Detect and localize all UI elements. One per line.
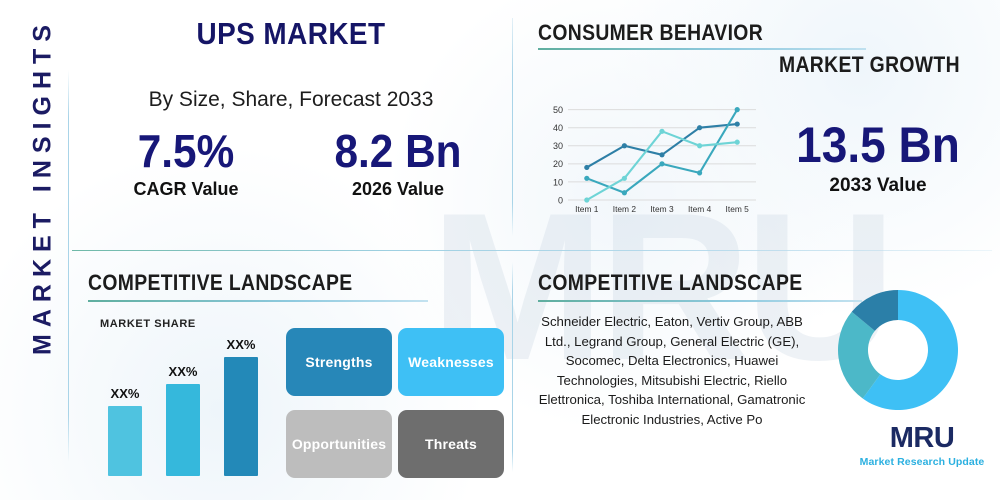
section-header-market-growth: MARKET GROWTH: [779, 52, 960, 78]
svg-text:Item 3: Item 3: [650, 204, 674, 214]
section-header-competitive-landscape-left: COMPETITIVE LANDSCAPE: [88, 270, 352, 296]
line-chart-x-tick-labels: Item 1Item 2Item 3Item 4Item 5: [575, 204, 749, 214]
stat-2033-value: 13.5 Bn 2033 Value: [768, 120, 988, 197]
stat-2033-value-number: 13.5 Bn: [777, 120, 979, 171]
svg-text:10: 10: [553, 177, 563, 187]
divider-vertical-left: [68, 70, 69, 462]
swot-strengths[interactable]: Strengths: [286, 328, 392, 396]
market-share-bar-chart: MARKET SHARE XX%XX%XX%: [100, 318, 270, 478]
stat-2026-value-label: 2026 Value: [300, 179, 496, 200]
page-title: UPS MARKET: [94, 16, 488, 52]
section-header-competitive-landscape-right: COMPETITIVE LANDSCAPE: [538, 270, 802, 296]
section-rule-competitive-landscape-right: [538, 300, 862, 302]
bar-3-label: XX%: [211, 337, 271, 352]
logo-subtitle-text: Market Research Update: [856, 456, 988, 468]
stat-cagr: 7.5% CAGR Value: [88, 128, 284, 200]
consumer-behavior-line-chart: 01020304050 Item 1Item 2Item 3Item 4Item…: [540, 100, 762, 222]
bar-1-label: XX%: [95, 386, 155, 401]
svg-text:Item 5: Item 5: [726, 204, 750, 214]
svg-text:30: 30: [553, 141, 563, 151]
side-label-market-insights: MARKET INSIGHTS: [29, 0, 58, 382]
swot-threats[interactable]: Threats: [398, 410, 504, 478]
svg-text:Item 1: Item 1: [575, 204, 599, 214]
swot-opportunities[interactable]: Opportunities: [286, 410, 392, 478]
line-chart-series: [584, 107, 740, 203]
section-rule-consumer-behavior: [538, 48, 866, 50]
stat-2026-value-number: 8.2 Bn: [308, 128, 488, 175]
svg-text:0: 0: [558, 195, 563, 205]
divider-vertical-bottom: [512, 262, 513, 472]
divider-vertical-top: [512, 18, 513, 236]
brand-logo: MRU Market Research Update: [856, 424, 988, 468]
stat-cagr-label: CAGR Value: [88, 179, 284, 200]
bar-chart-title: MARKET SHARE: [100, 318, 196, 330]
logo-mark-text: MRU: [890, 424, 955, 453]
stat-2033-value-label: 2033 Value: [768, 175, 988, 197]
divider-horizontal: [72, 250, 992, 251]
section-rule-competitive-landscape-left: [88, 300, 428, 302]
section-header-consumer-behavior: CONSUMER BEHAVIOR: [538, 20, 763, 46]
svg-text:Item 4: Item 4: [688, 204, 712, 214]
bar-2-label: XX%: [153, 364, 213, 379]
svg-text:Item 2: Item 2: [613, 204, 637, 214]
infographic-canvas: MRU MARKET INSIGHTS UPS MARKET By Size, …: [0, 0, 1000, 500]
svg-text:50: 50: [553, 105, 563, 115]
stat-cagr-value: 7.5%: [96, 128, 276, 175]
line-chart-y-tick-labels: 01020304050: [553, 105, 563, 205]
svg-text:20: 20: [553, 159, 563, 169]
market-share-donut-chart: [836, 288, 960, 412]
bar-3: [224, 357, 258, 476]
donut-slices: [838, 290, 958, 410]
company-list: Schneider Electric, Eaton, Vertiv Group,…: [528, 312, 816, 430]
stat-2026-value: 8.2 Bn 2026 Value: [300, 128, 496, 200]
svg-text:40: 40: [553, 123, 563, 133]
page-subtitle: By Size, Share, Forecast 2033: [72, 88, 510, 112]
bar-2: [166, 384, 200, 476]
bar-1: [108, 406, 142, 476]
swot-weaknesses[interactable]: Weaknesses: [398, 328, 504, 396]
